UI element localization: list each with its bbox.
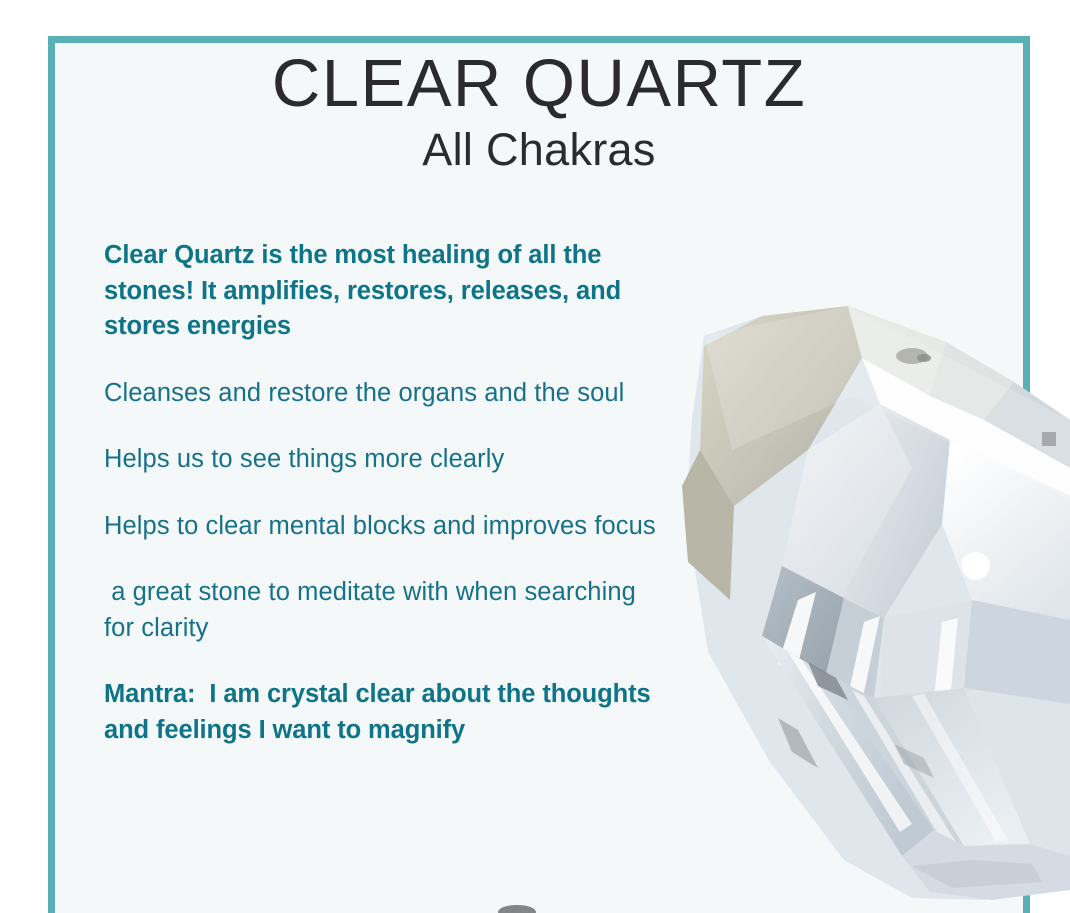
paragraph-intro: Clear Quartz is the most healing of all …	[104, 238, 669, 345]
poster-card: CLEAR QUARTZ All Chakras	[0, 0, 1070, 913]
paragraph-focus: Helps to clear mental blocks and improve…	[104, 509, 669, 545]
page-subtitle: All Chakras	[55, 124, 1023, 176]
paragraph-mantra: Mantra: I am crystal clear about the tho…	[104, 677, 669, 748]
frame-border-top	[48, 36, 1030, 43]
paragraph-clarity: Helps us to see things more clearly	[104, 442, 669, 478]
body-copy: Clear Quartz is the most healing of all …	[104, 238, 669, 748]
paragraph-cleansing: Cleanses and restore the organs and the …	[104, 376, 669, 412]
page-title: CLEAR QUARTZ	[55, 48, 1023, 120]
poster-header: CLEAR QUARTZ All Chakras	[55, 48, 1023, 176]
frame-border-left	[48, 36, 55, 913]
frame-border-right	[1023, 36, 1030, 913]
cropped-shadow-mark	[498, 905, 536, 913]
paragraph-meditation: a great stone to meditate with when sear…	[104, 575, 669, 646]
